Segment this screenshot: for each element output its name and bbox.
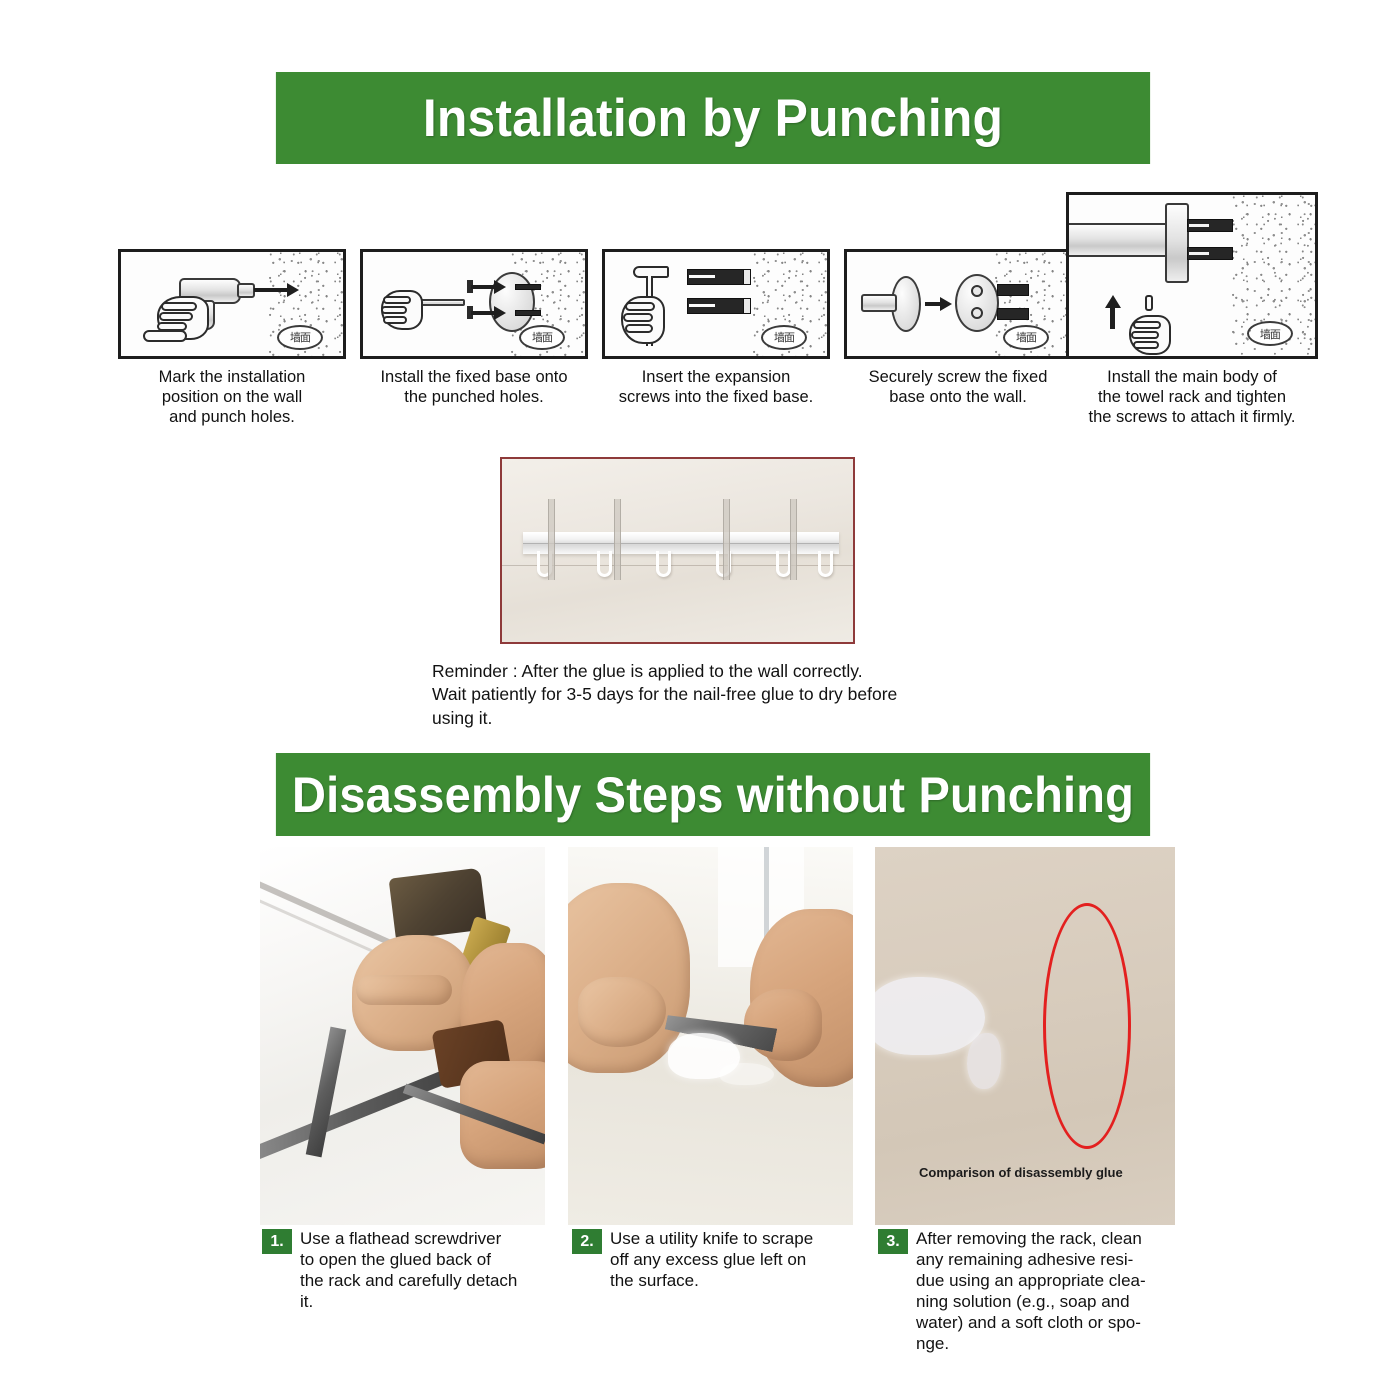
rack-hook <box>597 551 612 577</box>
expansion-bolt-slot-icon <box>689 304 715 307</box>
glue-residue <box>875 977 985 1055</box>
expansion-bolt-icon <box>997 308 1029 320</box>
mounting-screw <box>548 499 555 580</box>
install-step-mark-position: 墙面 Mark the installation position on the… <box>118 249 346 359</box>
step-number-badge: 1. <box>262 1229 292 1254</box>
drill-direction-arrow-icon <box>287 283 299 297</box>
screw-shaft-icon <box>471 285 495 289</box>
expansion-bolt-icon <box>997 284 1029 296</box>
disassembly-step-1: 1. Use a flathead screwdriver to open th… <box>262 1228 552 1312</box>
glue-residue <box>720 1063 774 1085</box>
wall-label-text: 墙面 <box>1016 329 1036 345</box>
drill-bit-icon <box>254 288 288 292</box>
wall-label-text: 墙面 <box>290 329 310 345</box>
thumb-right <box>744 989 822 1061</box>
step-illustration-frame: 墙面 <box>602 249 830 359</box>
finger-icon <box>383 296 411 304</box>
photo-utility-knife <box>568 847 853 1225</box>
disassembly-banner: Disassembly Steps without Punching <box>276 753 1150 836</box>
cover-cap-stem-icon <box>861 294 897 312</box>
reminder-text: Reminder : After the glue is applied to … <box>432 660 1032 730</box>
expansion-bolt-collar-icon <box>743 269 751 285</box>
base-plate-icon <box>955 274 999 332</box>
installation-banner: Installation by Punching <box>276 72 1150 164</box>
screwdriver-shaft <box>306 1027 347 1158</box>
allen-key-icon <box>1145 295 1153 311</box>
finger-icon <box>1133 341 1159 349</box>
step-text: Use a utility knife to scrape off any ex… <box>610 1228 813 1291</box>
glue-residue-tail <box>967 1033 1001 1089</box>
screw-icon <box>515 284 541 290</box>
installation-banner-title: Installation by Punching <box>423 88 1003 149</box>
step-text: Use a flathead screwdriver to open the g… <box>300 1228 517 1312</box>
expansion-bolt-collar-icon <box>743 298 751 314</box>
install-step-insert-expansion-screws: 墙面 Insert the expansion screws into the … <box>602 249 830 359</box>
screw-direction-arrow-icon <box>494 280 506 294</box>
wall-label-icon: 墙面 <box>1003 325 1049 350</box>
mounting-screw <box>723 499 730 580</box>
disassembly-banner-title: Disassembly Steps without Punching <box>292 766 1134 824</box>
install-step-install-fixed-base: 墙面 Install the fixed base onto the punch… <box>360 249 588 359</box>
wall-seam <box>502 565 853 566</box>
expansion-bolt-slot-icon <box>1189 224 1209 227</box>
finger-icon <box>1131 331 1159 339</box>
finger-icon <box>623 313 653 322</box>
drill-chuck-icon <box>237 283 255 298</box>
finger <box>356 975 452 1005</box>
step-number-badge: 3. <box>878 1229 908 1254</box>
mounting-screw <box>790 499 797 580</box>
photo-caption: Comparison of disassembly glue <box>919 1165 1123 1180</box>
install-step-caption: Insert the expansion screws into the fix… <box>588 367 844 407</box>
pry-bar <box>260 1062 468 1161</box>
install-step-install-main-body: 墙面 Install the main body of the towel ra… <box>1066 192 1318 359</box>
wall-label-text: 墙面 <box>774 329 794 345</box>
install-step-screw-base-to-wall: 墙面 Securely screw the fixed base onto th… <box>844 249 1072 359</box>
towel-rack-photo <box>500 457 855 644</box>
photo-hammer-screwdriver <box>260 847 545 1225</box>
install-step-caption: Install the fixed base onto the punched … <box>346 367 602 407</box>
towel-bar-bracket-icon <box>1165 203 1189 283</box>
finger-icon <box>1133 321 1161 329</box>
wall-label-icon: 墙面 <box>761 325 807 350</box>
photo-glue-comparison: Comparison of disassembly glue <box>875 847 1175 1225</box>
step-illustration-frame: 墙面 <box>844 249 1072 359</box>
rack-hook <box>776 551 791 577</box>
rack-hook <box>656 551 671 577</box>
install-step-caption: Install the main body of the towel rack … <box>1052 367 1332 427</box>
finger-icon <box>381 306 407 314</box>
step-number-badge: 2. <box>572 1229 602 1254</box>
wall-label-text: 墙面 <box>532 329 552 345</box>
expansion-bolt-slot-icon <box>689 275 715 278</box>
wall-label-text: 墙面 <box>1260 326 1280 342</box>
towel-bar-icon <box>1066 223 1171 257</box>
finger-icon <box>383 316 407 324</box>
wall-label-icon: 墙面 <box>519 325 565 350</box>
arrow-right-icon <box>940 297 952 311</box>
base-hole-icon <box>971 307 983 319</box>
wall-label-icon: 墙面 <box>277 325 323 350</box>
install-step-caption: Mark the installation position on the wa… <box>104 367 360 427</box>
finger-icon <box>159 312 193 321</box>
step-text: After removing the rack, clean any remai… <box>916 1228 1146 1354</box>
screw-direction-arrow-icon <box>494 306 506 320</box>
install-step-caption: Securely screw the fixed base onto the w… <box>830 367 1086 407</box>
finger-icon <box>161 302 197 311</box>
screw-icon <box>515 310 541 316</box>
step-illustration-frame: 墙面 <box>1066 192 1318 359</box>
finger-icon <box>625 324 653 333</box>
rack-hook <box>818 551 833 577</box>
thumb-icon <box>143 330 187 342</box>
disassembly-step-3: 3. After removing the rack, clean any re… <box>878 1228 1183 1354</box>
disassembly-step-2: 2. Use a utility knife to scrape off any… <box>572 1228 862 1291</box>
highlight-ellipse <box>1043 903 1131 1149</box>
mounting-screw <box>614 499 621 580</box>
arrow-up-shaft-icon <box>1110 307 1115 329</box>
step-illustration-frame: 墙面 <box>118 249 346 359</box>
expansion-bolt-slot-icon <box>1189 252 1209 255</box>
assembly-arrow-icon <box>925 302 941 306</box>
screw-shaft-icon <box>471 311 495 315</box>
step-illustration-frame: 墙面 <box>360 249 588 359</box>
finger-icon <box>625 302 655 311</box>
base-hole-icon <box>971 285 983 297</box>
